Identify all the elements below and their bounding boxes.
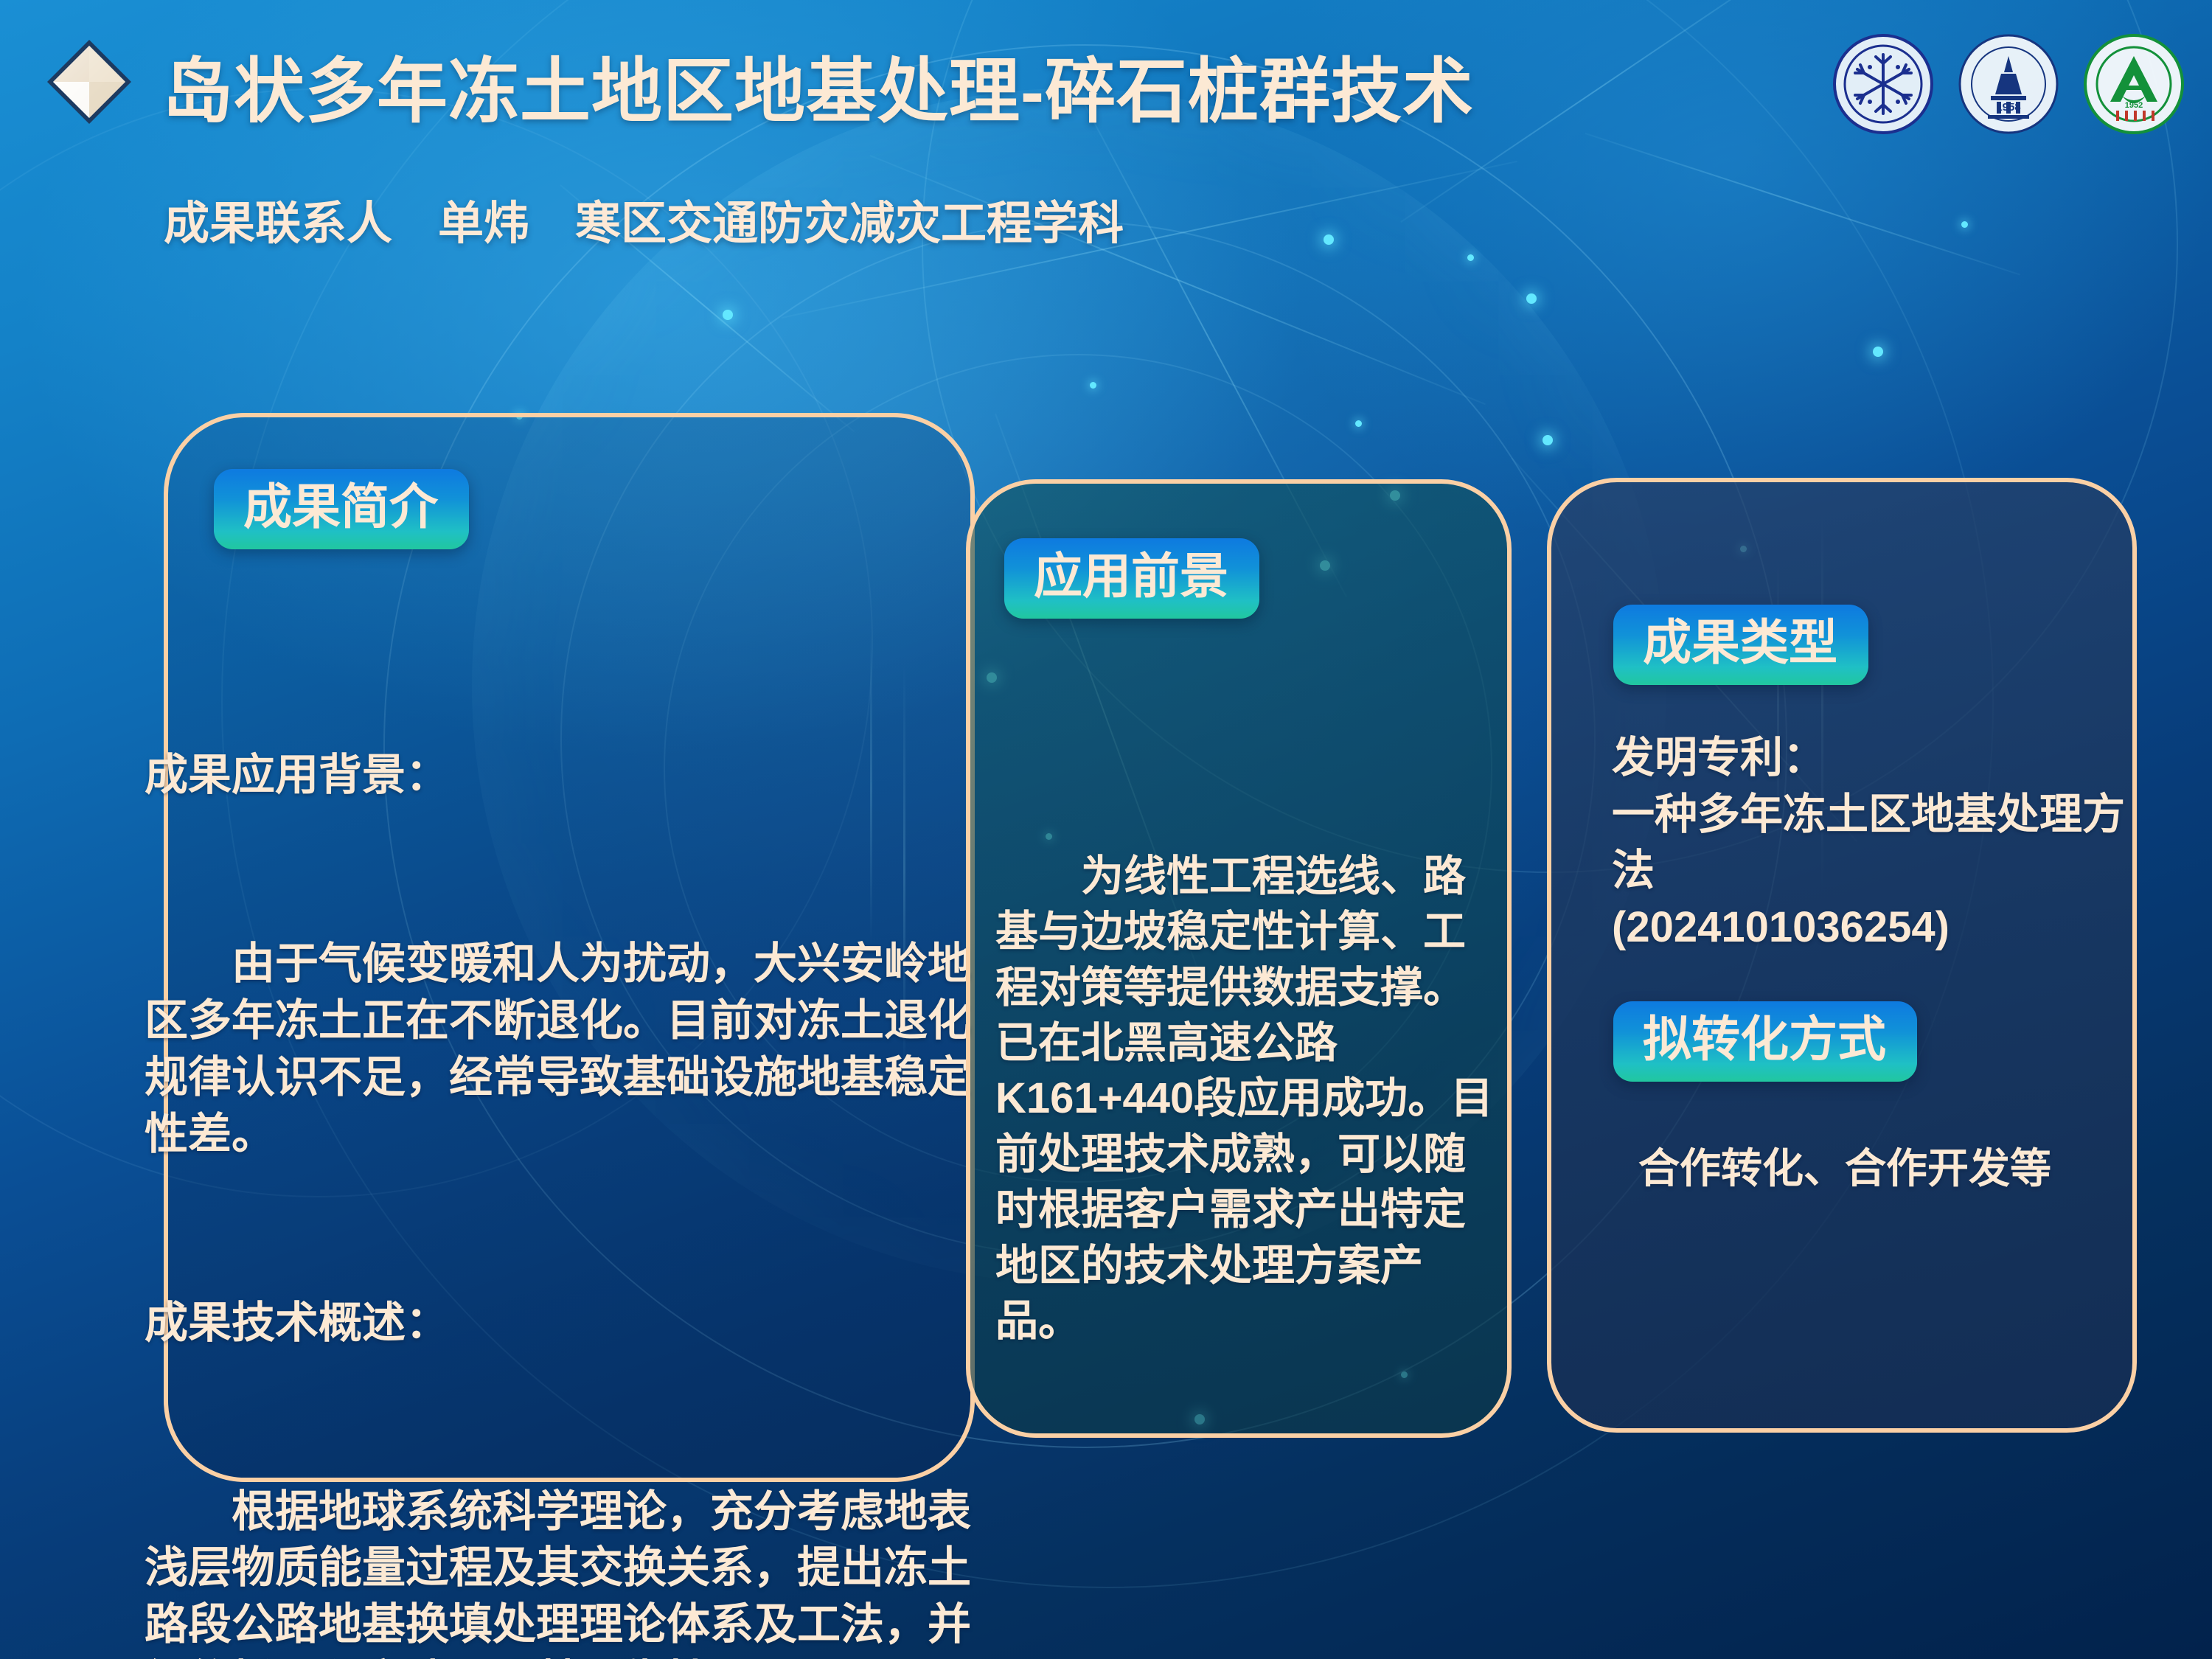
achievement-intro-text: 成果应用背景： 由于气候变暖和人为扰动，大兴安岭地区多年冻土正在不断退化。目前对… bbox=[145, 634, 985, 1659]
achievement-type-text: 发明专利： 一种多年冻土区地基处理方法 (2024101036254) bbox=[1612, 730, 2128, 956]
badge-application-prospect: 应用前景 bbox=[1004, 538, 1259, 619]
cold-region-institute-logo-icon bbox=[1833, 34, 1933, 134]
intro-paragraph-background: 由于气候变暖和人为扰动，大兴安岭地区多年冻土正在不断退化。目前对冻土退化规律认识… bbox=[145, 936, 985, 1162]
node-5 bbox=[1543, 435, 1553, 445]
diamond-logo-icon bbox=[46, 38, 133, 125]
application-prospect-text: 为线性工程选线、路基与边坡稳定性计算、工程对策等提供数据支撑。已在北黑高速公路K… bbox=[995, 737, 1504, 1460]
svg-text:1952: 1952 bbox=[2125, 101, 2143, 110]
page-title: 岛状多年冻土地区地基处理-碎石桩群技术 bbox=[162, 34, 1474, 136]
prospect-paragraph: 为线性工程选线、路基与边坡稳定性计算、工程对策等提供数据支撑。已在北黑高速公路K… bbox=[995, 849, 1504, 1349]
slide-canvas: 岛状多年冻土地区地基处理-碎石桩群技术 成果联系人 单炜 寒区交通防灾减灾工程学… bbox=[0, 0, 2212, 1659]
northeast-forestry-university-logo-icon: 1952 bbox=[2084, 34, 2184, 134]
transfer-method-text: 合作转化、合作开发等 bbox=[1638, 1141, 2140, 1196]
svg-text:1958: 1958 bbox=[1996, 101, 2020, 114]
node-6 bbox=[1355, 420, 1362, 427]
institution-logos: 1958 1952 bbox=[1833, 34, 2184, 134]
node-4 bbox=[1090, 382, 1096, 389]
node-17 bbox=[723, 310, 733, 320]
slide-header: 岛状多年冻土地区地基处理-碎石桩群技术 成果联系人 单炜 寒区交通防灾减灾工程学… bbox=[0, 0, 2212, 265]
badge-achievement-intro: 成果简介 bbox=[214, 469, 469, 549]
civil-engineering-transportation-logo-icon: 1958 bbox=[1958, 34, 2059, 134]
intro-heading-technology: 成果技术概述： bbox=[145, 1295, 985, 1352]
node-11 bbox=[1873, 347, 1883, 357]
intro-heading-background: 成果应用背景： bbox=[145, 747, 985, 804]
badge-transfer-method: 拟转化方式 bbox=[1613, 1001, 1917, 1082]
node-3 bbox=[1526, 293, 1537, 304]
page-subtitle: 成果联系人 单炜 寒区交通防灾减灾工程学科 bbox=[164, 186, 1124, 252]
badge-achievement-type: 成果类型 bbox=[1613, 605, 1868, 685]
intro-paragraph-technology: 根据地球系统科学理论，充分考虑地表浅层物质能量过程及其交换关系，提出冻土路段公路… bbox=[145, 1484, 985, 1659]
